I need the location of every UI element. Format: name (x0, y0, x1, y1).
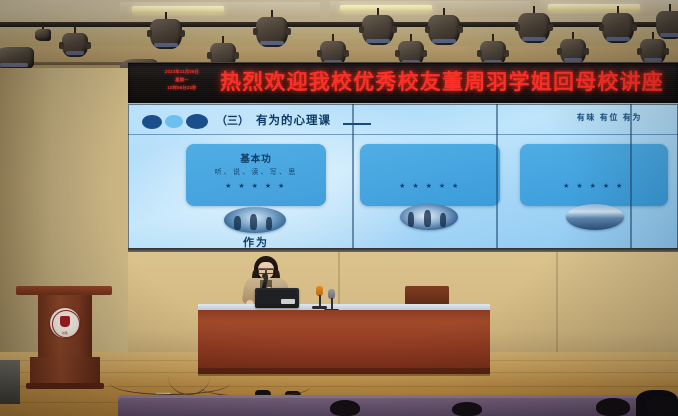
slide-card: ★ ★ ★ ★ ★ (360, 144, 500, 206)
presentation-slide: （三） 有为的心理课 有味 有位 有为 基本功 听、说、读、写、思 ★ ★ ★ … (128, 104, 678, 250)
stage-light (656, 4, 678, 38)
card-stars: ★ ★ ★ ★ ★ (520, 182, 668, 190)
lecture-hall-scene: 2023年11月06日 星期一 10时56分24秒 热烈欢迎我校优秀校友董周羽学… (0, 0, 678, 416)
stage-light (150, 12, 182, 48)
slide-section-title: 有为的心理课 (256, 112, 331, 128)
speaker-table-front (198, 310, 490, 374)
card-photo (566, 204, 624, 230)
audience-head (452, 402, 482, 416)
led-date-line3: 10时56分24秒 (148, 84, 216, 92)
stage-light (35, 22, 51, 38)
card-stars: ★ ★ ★ ★ ★ (360, 182, 500, 190)
video-wall-bezel (352, 104, 354, 250)
slide-section-number: （三） (216, 112, 249, 128)
slide-card: 基本功 听、说、读、写、思 ★ ★ ★ ★ ★ (186, 144, 326, 206)
stage-light (362, 8, 394, 44)
audience-head (646, 396, 676, 416)
slide-title-rule (343, 123, 371, 125)
video-wall-bezel (630, 104, 632, 250)
card-heading: 基本功 (186, 151, 326, 165)
equipment-case (0, 360, 20, 404)
laptop (255, 288, 299, 308)
university-emblem: 校徽 (50, 308, 80, 338)
card-subheading: 听、说、读、写、思 (186, 167, 326, 177)
glasses-icon (258, 268, 274, 272)
video-wall-bottom-edge (128, 248, 678, 252)
stage-light (480, 34, 506, 64)
led-date-line2: 星期一 (148, 76, 216, 84)
lighting-truss-upper (0, 22, 678, 27)
podium-top (16, 286, 112, 295)
audience-head (596, 398, 630, 416)
led-banner: 2023年11月06日 星期一 10时56分24秒 热烈欢迎我校优秀校友董周羽学… (128, 62, 678, 103)
slide-card: ★ ★ ★ ★ ★ (520, 144, 668, 206)
stage-light (428, 8, 460, 44)
emblem-label: 校徽 (50, 331, 80, 335)
card-photo (400, 204, 458, 230)
stage-light (256, 10, 288, 46)
stage-light (518, 6, 550, 42)
podium-foot (26, 383, 104, 389)
stage-light (62, 26, 88, 56)
audience-row (118, 398, 678, 416)
card-stars: ★ ★ ★ ★ ★ (186, 182, 326, 190)
stage-light (0, 40, 34, 66)
video-wall-bezel (496, 104, 498, 250)
slide-header-divider (128, 134, 678, 135)
led-date-line1: 2023年11月06日 (148, 68, 216, 76)
slide-motto: 有味 有位 有为 (577, 112, 642, 123)
stage-light (602, 6, 634, 42)
card-photo (224, 207, 286, 233)
stage-light (320, 34, 346, 64)
video-wall: （三） 有为的心理课 有味 有位 有为 基本功 听、说、读、写、思 ★ ★ ★ … (128, 104, 678, 250)
led-date-block: 2023年11月06日 星期一 10时56分24秒 (148, 68, 216, 92)
led-banner-title: 热烈欢迎我校优秀校友董周羽学姐回母校讲座 (220, 67, 674, 98)
audience-head (330, 400, 360, 416)
stage-light (560, 32, 586, 62)
stage-light (398, 34, 424, 64)
chair (405, 286, 449, 306)
slide-decor-dots (142, 114, 208, 129)
